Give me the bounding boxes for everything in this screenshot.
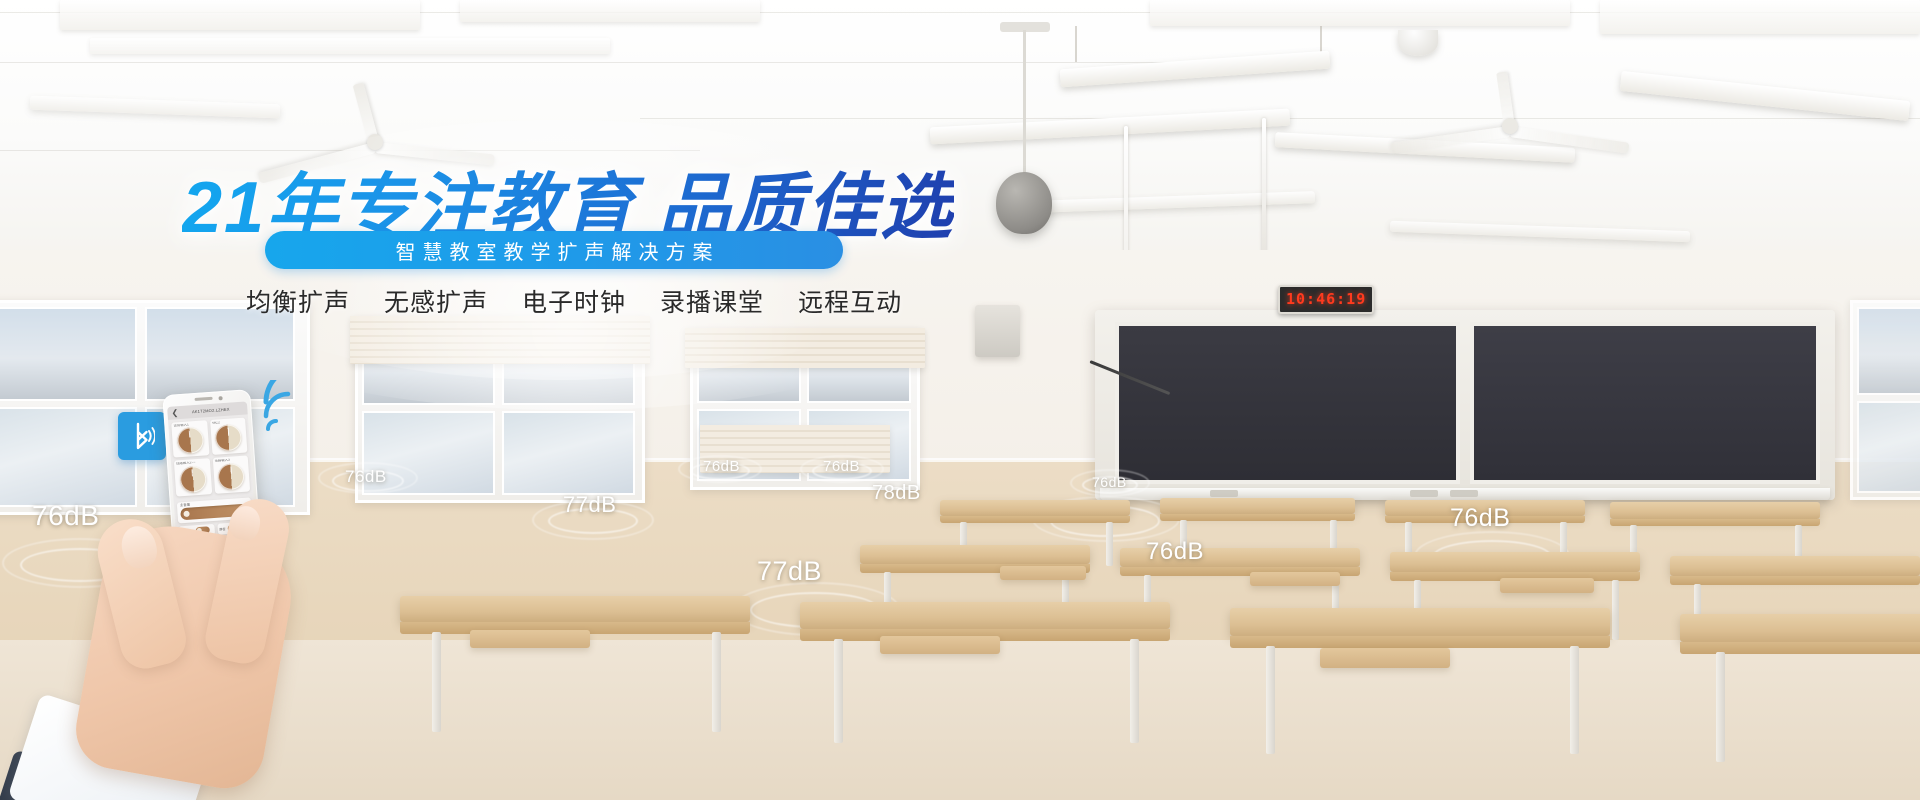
desk-leg <box>712 632 721 732</box>
desk <box>1160 498 1355 514</box>
feature-item-3: 录播课堂 <box>660 283 764 319</box>
app-title: AK1T2MO2.LZHEX <box>178 406 243 416</box>
db-label: 77dB <box>563 492 616 518</box>
board-control <box>1210 490 1238 497</box>
desk <box>1230 608 1610 636</box>
desk-edge <box>1610 519 1820 526</box>
window-blind <box>350 316 650 364</box>
clock-time: 10:46:19 <box>1286 290 1366 308</box>
desk <box>1680 614 1920 642</box>
volume-knob[interactable] <box>215 424 243 452</box>
desk <box>1670 556 1920 576</box>
desk-leg <box>1716 652 1725 762</box>
window-pane <box>0 307 137 401</box>
desk-edge <box>1160 514 1355 521</box>
knob-card[interactable]: MIC2 <box>210 418 248 456</box>
feature-item-4: 远程互动 <box>798 283 902 319</box>
window-pane <box>1857 401 1920 493</box>
db-label: 76dB <box>1146 538 1204 566</box>
ceiling-dome-speaker <box>1398 30 1438 56</box>
volume-knob[interactable] <box>176 427 204 455</box>
desk-leg <box>1130 639 1139 743</box>
ceiling-seam <box>0 62 1240 63</box>
wall-sensor <box>975 305 1020 357</box>
desk-leg <box>1266 646 1275 754</box>
feature-item-0: 均衡扩声 <box>246 283 350 319</box>
board-control <box>1410 490 1438 497</box>
fan-blade <box>1509 126 1629 154</box>
ceiling-fan <box>1390 96 1630 156</box>
desk <box>860 545 1090 564</box>
feature-item-2: 电子时钟 <box>522 283 626 319</box>
bluetooth-icon <box>129 421 155 451</box>
window-blind <box>685 328 925 368</box>
fan-blade <box>1390 126 1510 154</box>
hand-holding-phone <box>30 470 360 800</box>
ceiling-panel <box>460 0 760 22</box>
window <box>1850 300 1920 500</box>
desk-leg <box>432 632 441 732</box>
chair <box>470 630 590 648</box>
desk-edge <box>940 516 1130 523</box>
desk <box>800 602 1170 629</box>
desk-leg <box>1106 522 1113 566</box>
desk-leg <box>834 639 843 743</box>
speaker-stem <box>1023 30 1026 176</box>
desk <box>940 500 1130 516</box>
ceiling-speaker <box>996 172 1052 234</box>
wireless-signal-icon <box>262 380 322 435</box>
feature-item-1: 无感扩声 <box>384 283 488 319</box>
desk-leg <box>1612 580 1619 640</box>
smart-display-panel <box>1470 322 1820 484</box>
db-label: 76dB <box>1092 474 1127 490</box>
subtitle-pill: 智慧教室教学扩声解决方案 <box>265 231 843 269</box>
bluetooth-badge <box>118 412 166 460</box>
chair <box>1320 648 1450 668</box>
window-pane <box>502 411 635 495</box>
lamp-rod <box>1075 26 1077 62</box>
ceiling-panel <box>60 0 420 30</box>
db-label: 76dB <box>823 458 860 475</box>
chair <box>1000 566 1086 580</box>
db-label: 76dB <box>703 458 740 475</box>
chair <box>1500 578 1594 593</box>
chair <box>880 636 1000 654</box>
chair <box>1250 572 1340 586</box>
board-control <box>1450 490 1478 497</box>
knob-card[interactable]: 话筒输入1 <box>171 420 209 458</box>
fan-hub <box>1502 118 1518 134</box>
desk-edge <box>1230 636 1610 648</box>
window-pane <box>1857 307 1920 395</box>
ceiling-panel <box>90 38 610 54</box>
db-label: 77dB <box>757 556 822 587</box>
ceiling-panel <box>1150 0 1570 26</box>
led-clock: 10:46:19 <box>1278 285 1374 314</box>
desk <box>1390 552 1640 572</box>
desk-leg <box>1570 646 1579 754</box>
subtitle-text: 智慧教室教学扩声解决方案 <box>389 236 720 265</box>
desk-edge <box>1670 576 1920 585</box>
db-label: 76dB <box>1450 504 1510 533</box>
desk <box>1610 502 1820 519</box>
feature-list: 均衡扩声 无感扩声 电子时钟 录播课堂 远程互动 <box>246 283 902 319</box>
ceiling-panel <box>1600 0 1920 34</box>
db-label: 78dB <box>872 482 921 505</box>
desk <box>400 596 750 622</box>
classroom-hero-banner: 10:46:19 <box>0 0 1920 800</box>
blackboard-left-panel <box>1115 322 1460 484</box>
